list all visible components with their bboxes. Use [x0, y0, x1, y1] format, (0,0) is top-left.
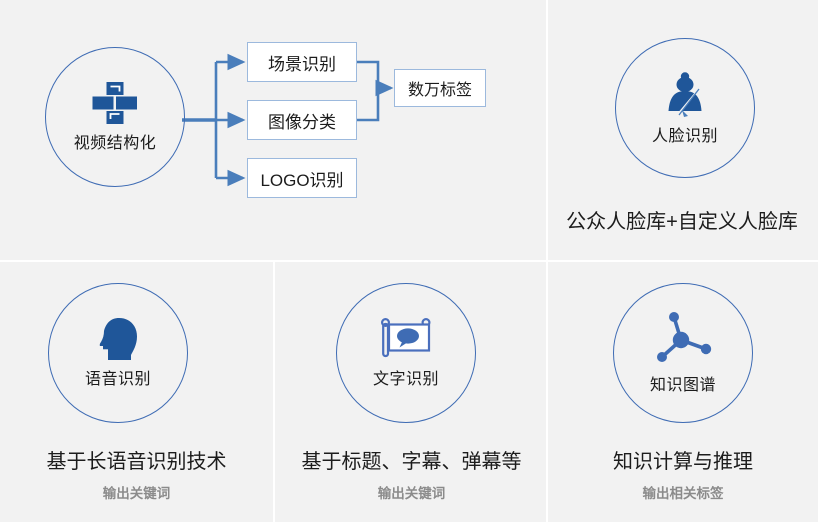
badge-label-text-recognition: 文字识别 [373, 365, 439, 389]
video-structuring-icon [92, 81, 138, 125]
subcaption-knowledge-graph: 输出相关标签 [548, 482, 818, 502]
flow-node-logo[interactable]: LOGO识别 [247, 158, 357, 198]
flow-node-image-classification-label: 图像分类 [268, 108, 336, 133]
badge-label-speech-recognition: 语音识别 [85, 365, 151, 389]
subcaption-text-recognition: 输出关键词 [276, 482, 547, 502]
flow-node-tags-label: 数万标签 [408, 76, 472, 100]
speech-head-icon [97, 317, 139, 361]
badge-label-video-structuring: 视频结构化 [74, 129, 157, 153]
caption-speech-recognition: 基于长语音识别技术 [0, 445, 273, 474]
badge-text-recognition[interactable]: 文字识别 [336, 283, 476, 423]
flow-node-image-classification[interactable]: 图像分类 [247, 100, 357, 140]
face-recognition-icon [662, 70, 708, 118]
badge-face-recognition[interactable]: 人脸识别 [615, 38, 755, 178]
flow-node-scene[interactable]: 场景识别 [247, 42, 357, 82]
badge-knowledge-graph[interactable]: 知识图谱 [613, 283, 753, 423]
text-banner-icon [379, 317, 433, 361]
caption-face-recognition: 公众人脸库+自定义人脸库 [546, 205, 818, 234]
badge-label-face-recognition: 人脸识别 [652, 122, 718, 146]
flow-node-logo-label: LOGO识别 [260, 166, 343, 191]
caption-text-recognition: 基于标题、字幕、弹幕等 [276, 445, 547, 474]
flow-node-tags[interactable]: 数万标签 [394, 69, 486, 107]
badge-label-knowledge-graph: 知识图谱 [650, 371, 716, 395]
subcaption-speech-recognition: 输出关键词 [0, 482, 273, 502]
flow-node-scene-label: 场景识别 [268, 50, 336, 75]
badge-speech-recognition[interactable]: 语音识别 [48, 283, 188, 423]
caption-knowledge-graph: 知识计算与推理 [548, 445, 818, 474]
knowledge-graph-icon [652, 311, 714, 367]
badge-video-structuring[interactable]: 视频结构化 [45, 47, 185, 187]
